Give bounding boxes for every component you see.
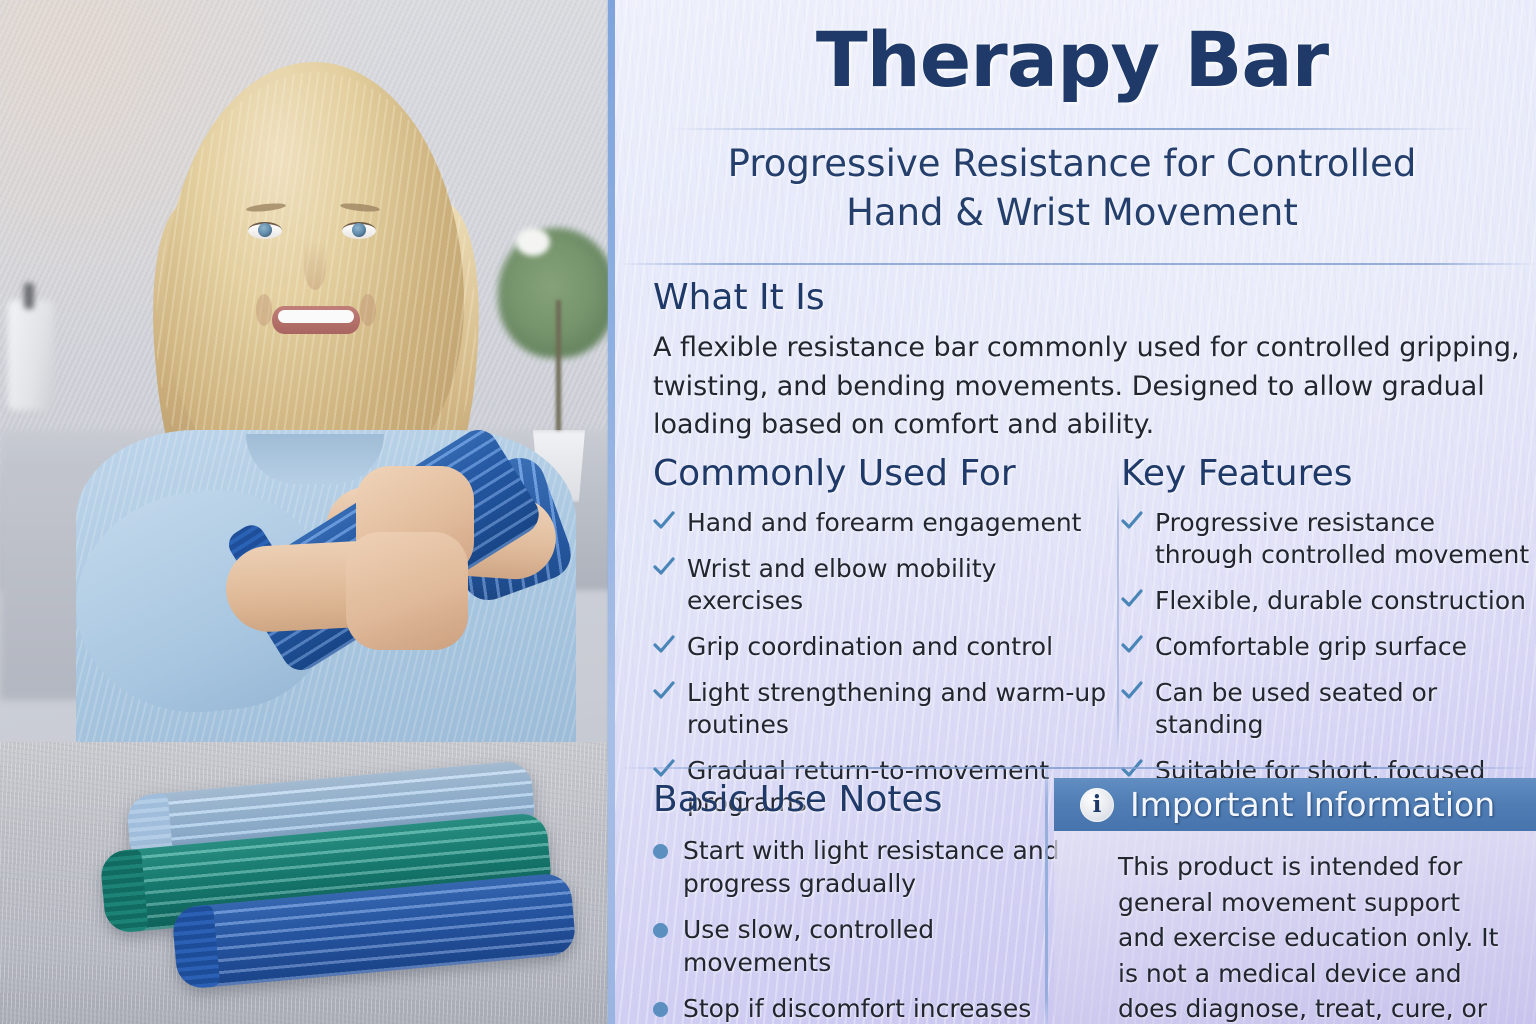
iris-right	[352, 223, 366, 237]
content-panel: Therapy Bar Progressive Resistance for C…	[608, 0, 1536, 1024]
infographic-poster: Therapy Bar Progressive Resistance for C…	[0, 0, 1536, 1024]
section-basic-use-notes: Basic Use Notes Start with light resista…	[653, 778, 1073, 1024]
check-icon	[653, 556, 675, 578]
list-item-label: Grip coordination and control	[687, 632, 1053, 661]
bullet-dot-icon	[653, 844, 668, 859]
page-title: Therapy Bar	[608, 20, 1536, 100]
commonly-used-for-list: Hand and forearm engagement Wrist and el…	[653, 507, 1108, 819]
list-item-label: Comfortable grip surface	[1155, 632, 1467, 661]
page-subtitle: Progressive Resistance for Controlled Ha…	[608, 140, 1536, 238]
important-information-header: i Important Information	[1054, 778, 1536, 831]
check-icon	[1121, 588, 1143, 610]
list-item: Progressive resistance through controlle…	[1121, 507, 1536, 571]
list-item: Grip coordination and control	[653, 631, 1108, 663]
list-item-label: Wrist and elbow mobility exercises	[687, 554, 996, 615]
section-what-it-is: What It Is A flexible resistance bar com…	[653, 276, 1523, 444]
section-commonly-used-for: Commonly Used For Hand and forearm engag…	[653, 452, 1108, 833]
check-icon	[1121, 634, 1143, 656]
list-item: Light strengthening and warm-up routines	[653, 677, 1108, 741]
list-item-label: Hand and forearm engagement	[687, 508, 1081, 537]
smile-line-right	[360, 294, 376, 326]
what-it-is-heading: What It Is	[653, 276, 1523, 319]
important-information-heading: Important Information	[1130, 785, 1495, 824]
bullet-dot-icon	[653, 1002, 668, 1017]
bullet-dot-icon	[653, 923, 668, 938]
mouth	[272, 306, 360, 334]
info-box-left-accent	[1045, 768, 1048, 1024]
product-photo	[0, 0, 612, 1024]
list-item-label: Stop if discomfort increases	[683, 994, 1031, 1023]
nose	[304, 240, 326, 290]
info-icon: i	[1080, 788, 1114, 822]
smile-line-left	[256, 294, 272, 326]
check-icon	[653, 510, 675, 532]
subtitle-line-1: Progressive Resistance for Controlled	[608, 140, 1536, 189]
list-item-label: Flexible, durable construction	[1155, 586, 1526, 615]
check-icon	[653, 634, 675, 656]
list-item: Wrist and elbow mobility exercises	[653, 553, 1108, 617]
list-item-label: Progressive resistance through controlle…	[1155, 508, 1529, 569]
check-icon	[653, 680, 675, 702]
list-item-label: Use slow, controlled movements	[683, 915, 934, 977]
list-item: Comfortable grip surface	[1121, 631, 1536, 663]
title-divider	[670, 128, 1474, 130]
list-item: Start with light resistance and progress…	[653, 835, 1073, 900]
important-information-text: This product is intended for general mov…	[1118, 849, 1514, 1024]
list-item: Stop if discomfort increases	[653, 993, 1073, 1024]
hand-lower	[346, 532, 468, 650]
list-item: Can be used seated or standing	[1121, 677, 1536, 741]
what-it-is-body: A flexible resistance bar commonly used …	[653, 329, 1523, 444]
check-icon	[1121, 510, 1143, 532]
list-item-label: Light strengthening and warm-up routines	[687, 678, 1106, 739]
subtitle-line-2: Hand & Wrist Movement	[608, 189, 1536, 238]
list-item-label: Start with light resistance and progress…	[683, 836, 1060, 898]
column-divider	[1117, 470, 1119, 760]
list-item: Use slow, controlled movements	[653, 914, 1073, 979]
basic-use-notes-heading: Basic Use Notes	[653, 778, 1073, 821]
title-block: Therapy Bar	[608, 20, 1536, 100]
check-icon	[1121, 680, 1143, 702]
bottle-object	[8, 300, 54, 410]
important-information-box: i Important Information This product is …	[1045, 768, 1536, 1024]
important-information-body: This product is intended for general mov…	[1054, 831, 1536, 1024]
section-divider-top	[618, 263, 1536, 265]
commonly-used-for-heading: Commonly Used For	[653, 452, 1108, 495]
list-item-label: Can be used seated or standing	[1155, 678, 1437, 739]
teeth	[278, 310, 354, 323]
check-icon	[653, 758, 675, 780]
bottle-cap-object	[24, 283, 34, 309]
list-item: Flexible, durable construction	[1121, 585, 1536, 617]
iris-left	[258, 223, 272, 237]
key-features-heading: Key Features	[1121, 452, 1536, 495]
basic-use-notes-list: Start with light resistance and progress…	[653, 835, 1073, 1024]
list-item: Hand and forearm engagement	[653, 507, 1108, 539]
